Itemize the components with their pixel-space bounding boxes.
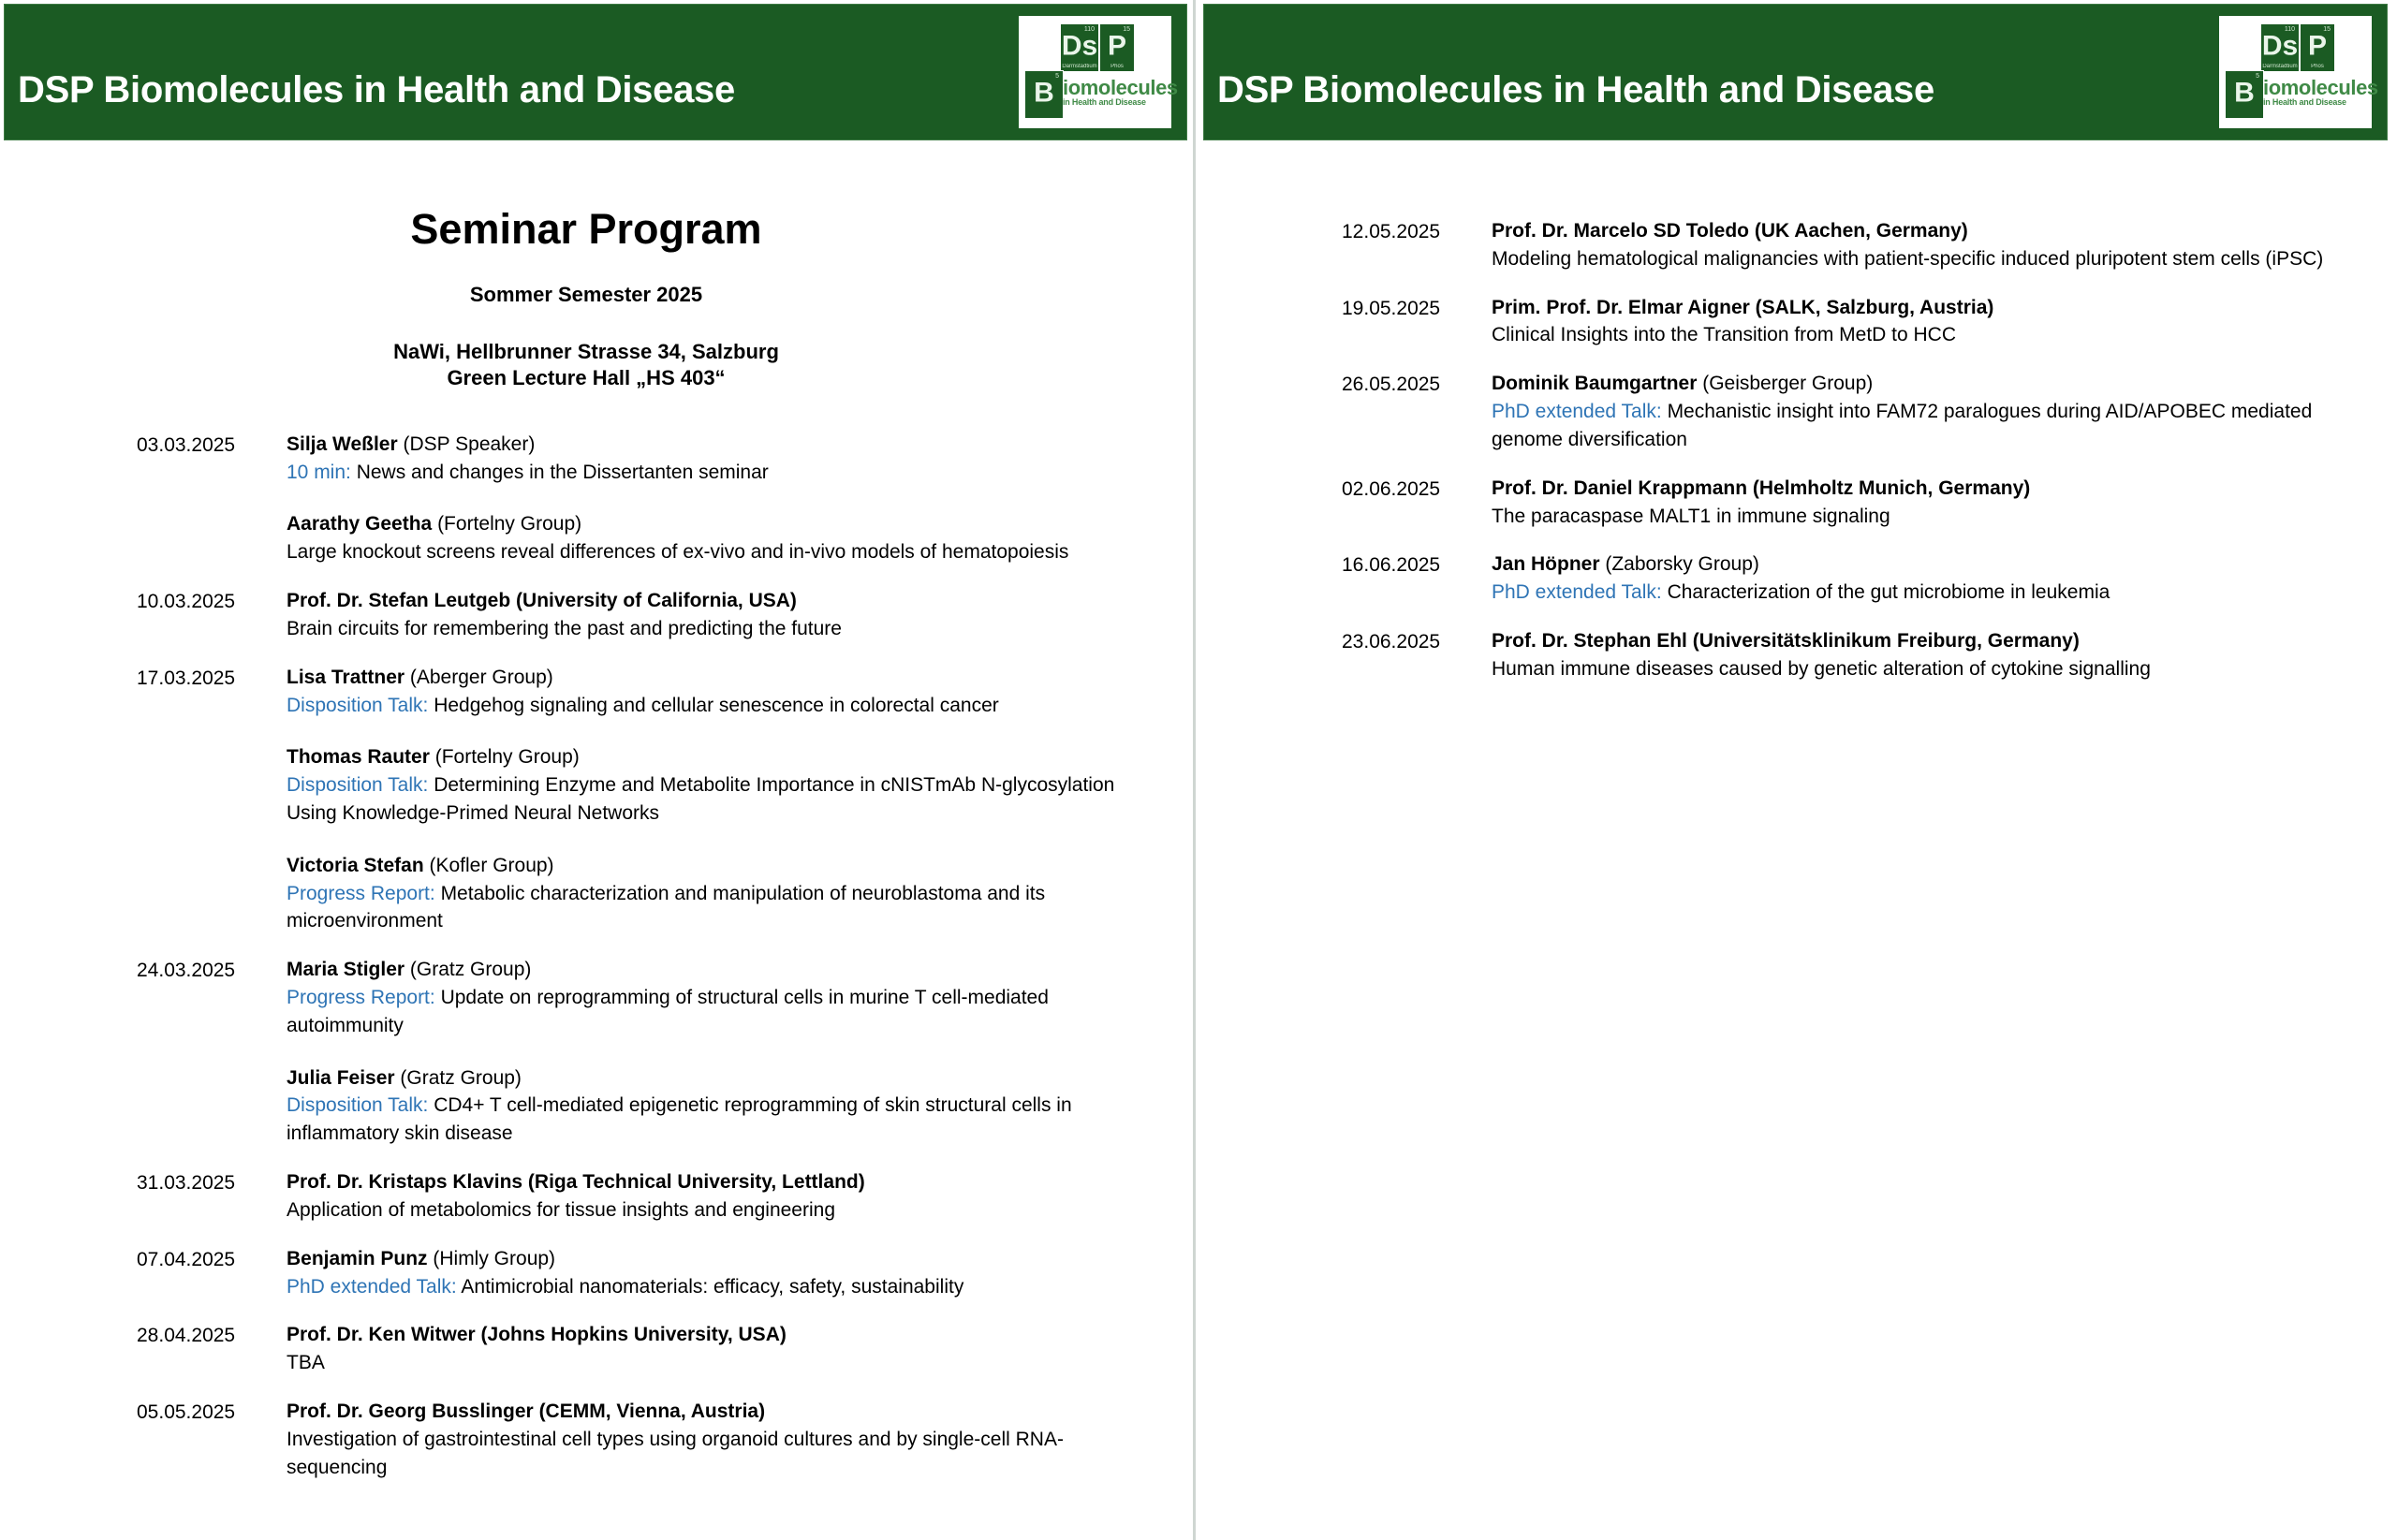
seminar-schedule-left: 03.03.2025Silja Weßler (DSP Speaker)10 m…: [0, 431, 1193, 1482]
talk-item: Lisa Trattner (Aberger Group)Disposition…: [287, 664, 1137, 720]
speaker-affiliation: (Gratz Group): [404, 959, 531, 980]
entry-talks: Prof. Dr. Kristaps Klavins (Riga Technic…: [287, 1168, 1137, 1225]
logo-wordmark-right: iomolecules: [2263, 78, 2378, 98]
speaker-line: Prof. Dr. Stefan Leutgeb (University of …: [287, 587, 1137, 615]
page-header-banner-right: DSP Biomolecules in Health and Disease 1…: [1203, 4, 2388, 140]
banner-title-left: DSP Biomolecules in Health and Disease: [18, 69, 735, 111]
talk-item: Prof. Dr. Kristaps Klavins (Riga Technic…: [287, 1168, 1137, 1225]
speaker-name: Prof. Dr. Daniel Krappmann: [1492, 477, 1747, 499]
entry-talks: Silja Weßler (DSP Speaker)10 min: News a…: [287, 431, 1137, 566]
speaker-name: Prof. Dr. Stephan Ehl: [1492, 630, 1687, 652]
schedule-entry: 03.03.2025Silja Weßler (DSP Speaker)10 m…: [137, 431, 1137, 566]
entry-talks: Prof. Dr. Stefan Leutgeb (University of …: [287, 587, 1137, 643]
element-symbol-p-left: P: [1100, 33, 1134, 61]
speaker-name: Prof. Dr. Marcelo SD Toledo: [1492, 220, 1749, 242]
entry-date: 07.04.2025: [137, 1245, 287, 1274]
speaker-name: Julia Feiser: [287, 1067, 395, 1089]
talk-title: Brain circuits for remembering the past …: [287, 618, 842, 639]
speaker-name: Prim. Prof. Dr. Elmar Aigner: [1492, 297, 1750, 318]
speaker-name: Dominik Baumgartner: [1492, 373, 1697, 394]
speaker-affiliation: (University of California, USA): [510, 590, 797, 611]
talk-title-line: Application of metabolomics for tissue i…: [287, 1196, 1137, 1225]
speaker-name: Prof. Dr. Kristaps Klavins: [287, 1171, 522, 1193]
element-symbol-b-left: B: [1025, 80, 1063, 108]
schedule-entry: 26.05.2025Dominik Baumgartner (Geisberge…: [1342, 370, 2341, 453]
speaker-name: Jan Höpner: [1492, 553, 1600, 575]
talk-title-line: Disposition Talk: Determining Enzyme and…: [287, 771, 1137, 828]
talk-item: Dominik Baumgartner (Geisberger Group)Ph…: [1492, 370, 2341, 453]
entry-talks: Jan Höpner (Zaborsky Group)PhD extended …: [1492, 550, 2341, 607]
speaker-line: Prof. Dr. Georg Busslinger (CEMM, Vienna…: [287, 1398, 1137, 1426]
element-tile-b-left: 5 B: [1024, 70, 1064, 119]
entry-date: 03.03.2025: [137, 431, 287, 460]
entry-talks: Prim. Prof. Dr. Elmar Aigner (SALK, Salz…: [1492, 294, 2341, 350]
talk-title-line: Disposition Talk: Hedgehog signaling and…: [287, 692, 1137, 720]
talk-type-label: PhD extended Talk:: [1492, 401, 1662, 422]
speaker-line: Silja Weßler (DSP Speaker): [287, 431, 1137, 459]
talk-title-line: Brain circuits for remembering the past …: [287, 615, 1137, 643]
talk-type-label: Disposition Talk:: [287, 1094, 428, 1116]
speaker-name: Benjamin Punz: [287, 1248, 428, 1269]
document-body-left: Seminar Program Sommer Semester 2025 NaW…: [0, 140, 1193, 1540]
entry-date: 23.06.2025: [1342, 627, 1492, 656]
schedule-entry: 23.06.2025Prof. Dr. Stephan Ehl (Univers…: [1342, 627, 2341, 683]
talk-title: Large knockout screens reveal difference…: [287, 541, 1068, 563]
entry-date: 19.05.2025: [1342, 294, 1492, 323]
schedule-entry: 16.06.2025Jan Höpner (Zaborsky Group)PhD…: [1342, 550, 2341, 607]
talk-title-line: PhD extended Talk: Antimicrobial nanomat…: [287, 1273, 1137, 1301]
talk-title-line: Large knockout screens reveal difference…: [287, 538, 1137, 566]
talk-title: Antimicrobial nanomaterials: efficacy, s…: [457, 1276, 964, 1298]
talk-item: Victoria Stefan (Kofler Group)Progress R…: [287, 852, 1137, 935]
logo-subline-left: in Health and Disease: [1063, 98, 1146, 107]
entry-date: 24.03.2025: [137, 956, 287, 985]
speaker-affiliation: (Himly Group): [428, 1248, 556, 1269]
speaker-line: Lisa Trattner (Aberger Group): [287, 664, 1137, 692]
talk-item: Thomas Rauter (Fortelny Group)Dispositio…: [287, 743, 1137, 827]
speaker-affiliation: (UK Aachen, Germany): [1749, 220, 1968, 242]
speaker-line: Prof. Dr. Daniel Krappmann (Helmholtz Mu…: [1492, 475, 2341, 503]
entry-talks: Prof. Dr. Marcelo SD Toledo (UK Aachen, …: [1492, 217, 2341, 273]
talk-type-label: 10 min:: [287, 462, 351, 483]
banner-title-right: DSP Biomolecules in Health and Disease: [1217, 69, 1934, 111]
page-right: DSP Biomolecules in Health and Disease 1…: [1196, 0, 2397, 1540]
speaker-affiliation: (Johns Hopkins University, USA): [476, 1324, 787, 1345]
speaker-name: Victoria Stefan: [287, 855, 424, 876]
speaker-affiliation: (SALK, Salzburg, Austria): [1750, 297, 1994, 318]
speaker-line: Victoria Stefan (Kofler Group): [287, 852, 1137, 880]
talk-title: The paracaspase MALT1 in immune signalin…: [1492, 506, 1890, 527]
speaker-name: Aarathy Geetha: [287, 513, 432, 535]
talk-type-label: PhD extended Talk:: [287, 1276, 457, 1298]
talk-title: Investigation of gastrointestinal cell t…: [287, 1429, 1064, 1478]
schedule-entry: 10.03.2025Prof. Dr. Stefan Leutgeb (Univ…: [137, 587, 1137, 643]
dsp-biomolecules-logo-left: 110 Ds Darmstadtium 15 P Phos 5 B: [1019, 16, 1171, 128]
entry-talks: Dominik Baumgartner (Geisberger Group)Ph…: [1492, 370, 2341, 453]
speaker-name: Prof. Dr. Stefan Leutgeb: [287, 590, 510, 611]
talk-title-line: Modeling hematological malignancies with…: [1492, 245, 2341, 273]
talk-item: Silja Weßler (DSP Speaker)10 min: News a…: [287, 431, 1137, 487]
element-symbol-ds-right: Ds: [2261, 33, 2299, 61]
two-page-spread: DSP Biomolecules in Health and Disease 1…: [0, 0, 2397, 1540]
talk-title-line: Investigation of gastrointestinal cell t…: [287, 1426, 1137, 1482]
element-name-p-right: Phos: [2301, 64, 2334, 69]
speaker-line: Prof. Dr. Kristaps Klavins (Riga Technic…: [287, 1168, 1137, 1196]
element-symbol-p-right: P: [2301, 33, 2334, 61]
speaker-affiliation: (Helmholtz Munich, Germany): [1747, 477, 2030, 499]
entry-date: 05.05.2025: [137, 1398, 287, 1427]
element-symbol-ds-left: Ds: [1061, 33, 1098, 61]
entry-talks: Prof. Dr. Ken Witwer (Johns Hopkins Univ…: [287, 1321, 1137, 1377]
talk-item: Prof. Dr. Stephan Ehl (Universitätsklini…: [1492, 627, 2341, 683]
entry-talks: Benjamin Punz (Himly Group)PhD extended …: [287, 1245, 1137, 1301]
talk-item: Prim. Prof. Dr. Elmar Aigner (SALK, Salz…: [1492, 294, 2341, 350]
speaker-line: Thomas Rauter (Fortelny Group): [287, 743, 1137, 771]
speaker-line: Prof. Dr. Marcelo SD Toledo (UK Aachen, …: [1492, 217, 2341, 245]
talk-item: Prof. Dr. Stefan Leutgeb (University of …: [287, 587, 1137, 643]
talk-title: News and changes in the Dissertanten sem…: [351, 462, 769, 483]
speaker-line: Aarathy Geetha (Fortelny Group): [287, 510, 1137, 538]
speaker-affiliation: (Riga Technical University, Lettland): [522, 1171, 865, 1193]
schedule-entry: 19.05.2025Prim. Prof. Dr. Elmar Aigner (…: [1342, 294, 2341, 350]
talk-title: TBA: [287, 1352, 325, 1373]
venue-room: Green Lecture Hall „HS 403“: [0, 365, 1193, 391]
talk-item: Benjamin Punz (Himly Group)PhD extended …: [287, 1245, 1137, 1301]
speaker-line: Julia Feiser (Gratz Group): [287, 1064, 1137, 1093]
speaker-line: Benjamin Punz (Himly Group): [287, 1245, 1137, 1273]
speaker-affiliation: (DSP Speaker): [398, 433, 536, 455]
talk-type-label: Progress Report:: [287, 987, 435, 1008]
speaker-affiliation: (Universitätsklinikum Freiburg, Germany): [1687, 630, 2080, 652]
talk-title: Modeling hematological malignancies with…: [1492, 248, 2323, 270]
entry-date: 12.05.2025: [1342, 217, 1492, 246]
talk-title: Human immune diseases caused by genetic …: [1492, 658, 2151, 680]
schedule-entry: 31.03.2025Prof. Dr. Kristaps Klavins (Ri…: [137, 1168, 1137, 1225]
venue-address: NaWi, Hellbrunner Strasse 34, Salzburg: [0, 339, 1193, 365]
talk-item: Prof. Dr. Daniel Krappmann (Helmholtz Mu…: [1492, 475, 2341, 531]
speaker-line: Maria Stigler (Gratz Group): [287, 956, 1137, 984]
element-name-ds-right: Darmstadtium: [2261, 64, 2299, 69]
talk-title-line: TBA: [287, 1349, 1137, 1377]
speaker-affiliation: (Gratz Group): [395, 1067, 522, 1089]
schedule-entry: 17.03.2025Lisa Trattner (Aberger Group)D…: [137, 664, 1137, 936]
page-title: Seminar Program: [0, 206, 1193, 253]
talk-title-line: PhD extended Talk: Mechanistic insight i…: [1492, 398, 2341, 454]
schedule-entry: 07.04.2025Benjamin Punz (Himly Group)PhD…: [137, 1245, 1137, 1301]
talk-item: Prof. Dr. Ken Witwer (Johns Hopkins Univ…: [287, 1321, 1137, 1377]
entry-date: 16.06.2025: [1342, 550, 1492, 579]
entry-date: 02.06.2025: [1342, 475, 1492, 504]
entry-date: 26.05.2025: [1342, 370, 1492, 399]
talk-item: Julia Feiser (Gratz Group)Disposition Ta…: [287, 1064, 1137, 1148]
document-body-right: 12.05.2025Prof. Dr. Marcelo SD Toledo (U…: [1196, 140, 2397, 1540]
talk-type-label: Disposition Talk:: [287, 774, 428, 796]
entry-talks: Prof. Dr. Georg Busslinger (CEMM, Vienna…: [287, 1398, 1137, 1481]
talk-title: Clinical Insights into the Transition fr…: [1492, 324, 1956, 345]
element-name-ds-left: Darmstadtium: [1061, 64, 1098, 69]
schedule-entry: 02.06.2025Prof. Dr. Daniel Krappmann (He…: [1342, 475, 2341, 531]
semester-label: Sommer Semester 2025: [0, 283, 1193, 307]
seminar-schedule-right: 12.05.2025Prof. Dr. Marcelo SD Toledo (U…: [1196, 140, 2397, 683]
schedule-entry: 24.03.2025Maria Stigler (Gratz Group)Pro…: [137, 956, 1137, 1148]
talk-title-line: Clinical Insights into the Transition fr…: [1492, 321, 2341, 349]
element-tile-p-left: 15 P Phos: [1099, 23, 1135, 72]
talk-item: Jan Höpner (Zaborsky Group)PhD extended …: [1492, 550, 2341, 607]
talk-title-line: Progress Report: Metabolic characterizat…: [287, 880, 1137, 936]
speaker-line: Jan Höpner (Zaborsky Group): [1492, 550, 2341, 579]
entry-talks: Prof. Dr. Daniel Krappmann (Helmholtz Mu…: [1492, 475, 2341, 531]
talk-item: Maria Stigler (Gratz Group)Progress Repo…: [287, 956, 1137, 1039]
talk-item: Prof. Dr. Georg Busslinger (CEMM, Vienna…: [287, 1398, 1137, 1481]
speaker-name: Prof. Dr. Georg Busslinger: [287, 1401, 534, 1422]
element-name-p-left: Phos: [1100, 64, 1134, 69]
entry-date: 28.04.2025: [137, 1321, 287, 1350]
talk-title-line: The paracaspase MALT1 in immune signalin…: [1492, 503, 2341, 531]
talk-type-label: Disposition Talk:: [287, 695, 428, 716]
talk-title-line: Progress Report: Update on reprogramming…: [287, 984, 1137, 1040]
speaker-affiliation: (Zaborsky Group): [1600, 553, 1759, 575]
dsp-biomolecules-logo-right: 110 Ds Darmstadtium 15 P Phos 5 B: [2219, 16, 2372, 128]
element-symbol-b-right: B: [2226, 80, 2263, 108]
talk-title: Characterization of the gut microbiome i…: [1662, 581, 2110, 603]
speaker-name: Maria Stigler: [287, 959, 404, 980]
speaker-line: Prim. Prof. Dr. Elmar Aigner (SALK, Salz…: [1492, 294, 2341, 322]
talk-title-line: Human immune diseases caused by genetic …: [1492, 655, 2341, 683]
title-block: Seminar Program Sommer Semester 2025 NaW…: [0, 140, 1193, 391]
entry-talks: Lisa Trattner (Aberger Group)Disposition…: [287, 664, 1137, 936]
entry-date: 10.03.2025: [137, 587, 287, 616]
speaker-line: Prof. Dr. Stephan Ehl (Universitätsklini…: [1492, 627, 2341, 655]
talk-type-label: PhD extended Talk:: [1492, 581, 1662, 603]
talk-item: Prof. Dr. Marcelo SD Toledo (UK Aachen, …: [1492, 217, 2341, 273]
talk-title: Application of metabolomics for tissue i…: [287, 1199, 835, 1221]
speaker-line: Dominik Baumgartner (Geisberger Group): [1492, 370, 2341, 398]
speaker-line: Prof. Dr. Ken Witwer (Johns Hopkins Univ…: [287, 1321, 1137, 1349]
talk-item: Aarathy Geetha (Fortelny Group)Large kno…: [287, 510, 1137, 566]
schedule-entry: 05.05.2025Prof. Dr. Georg Busslinger (CE…: [137, 1398, 1137, 1481]
talk-title: Hedgehog signaling and cellular senescen…: [428, 695, 998, 716]
speaker-name: Prof. Dr. Ken Witwer: [287, 1324, 476, 1345]
talk-title-line: 10 min: News and changes in the Disserta…: [287, 459, 1137, 487]
speaker-affiliation: (CEMM, Vienna, Austria): [534, 1401, 765, 1422]
speaker-affiliation: (Aberger Group): [404, 667, 553, 688]
speaker-name: Silja Weßler: [287, 433, 398, 455]
talk-title-line: Disposition Talk: CD4+ T cell-mediated e…: [287, 1092, 1137, 1148]
element-tile-ds-left: 110 Ds Darmstadtium: [1060, 23, 1099, 72]
speaker-affiliation: (Fortelny Group): [432, 513, 581, 535]
element-tile-p-right: 15 P Phos: [2300, 23, 2335, 72]
element-tile-ds-right: 110 Ds Darmstadtium: [2260, 23, 2300, 72]
entry-date: 31.03.2025: [137, 1168, 287, 1197]
schedule-entry: 28.04.2025Prof. Dr. Ken Witwer (Johns Ho…: [137, 1321, 1137, 1377]
logo-subline-right: in Health and Disease: [2263, 98, 2346, 107]
speaker-name: Thomas Rauter: [287, 746, 430, 768]
schedule-entry: 12.05.2025Prof. Dr. Marcelo SD Toledo (U…: [1342, 217, 2341, 273]
speaker-affiliation: (Fortelny Group): [430, 746, 580, 768]
page-header-banner-left: DSP Biomolecules in Health and Disease 1…: [4, 4, 1187, 140]
speaker-affiliation: (Geisberger Group): [1697, 373, 1873, 394]
entry-date: 17.03.2025: [137, 664, 287, 693]
talk-type-label: Progress Report:: [287, 883, 435, 904]
entry-talks: Prof. Dr. Stephan Ehl (Universitätsklini…: [1492, 627, 2341, 683]
entry-talks: Maria Stigler (Gratz Group)Progress Repo…: [287, 956, 1137, 1148]
element-tile-b-right: 5 B: [2225, 70, 2264, 119]
logo-wordmark-left: iomolecules: [1063, 78, 1178, 98]
venue-block: NaWi, Hellbrunner Strasse 34, Salzburg G…: [0, 339, 1193, 391]
speaker-name: Lisa Trattner: [287, 667, 404, 688]
talk-title-line: PhD extended Talk: Characterization of t…: [1492, 579, 2341, 607]
page-left: DSP Biomolecules in Health and Disease 1…: [0, 0, 1196, 1540]
speaker-affiliation: (Kofler Group): [424, 855, 554, 876]
